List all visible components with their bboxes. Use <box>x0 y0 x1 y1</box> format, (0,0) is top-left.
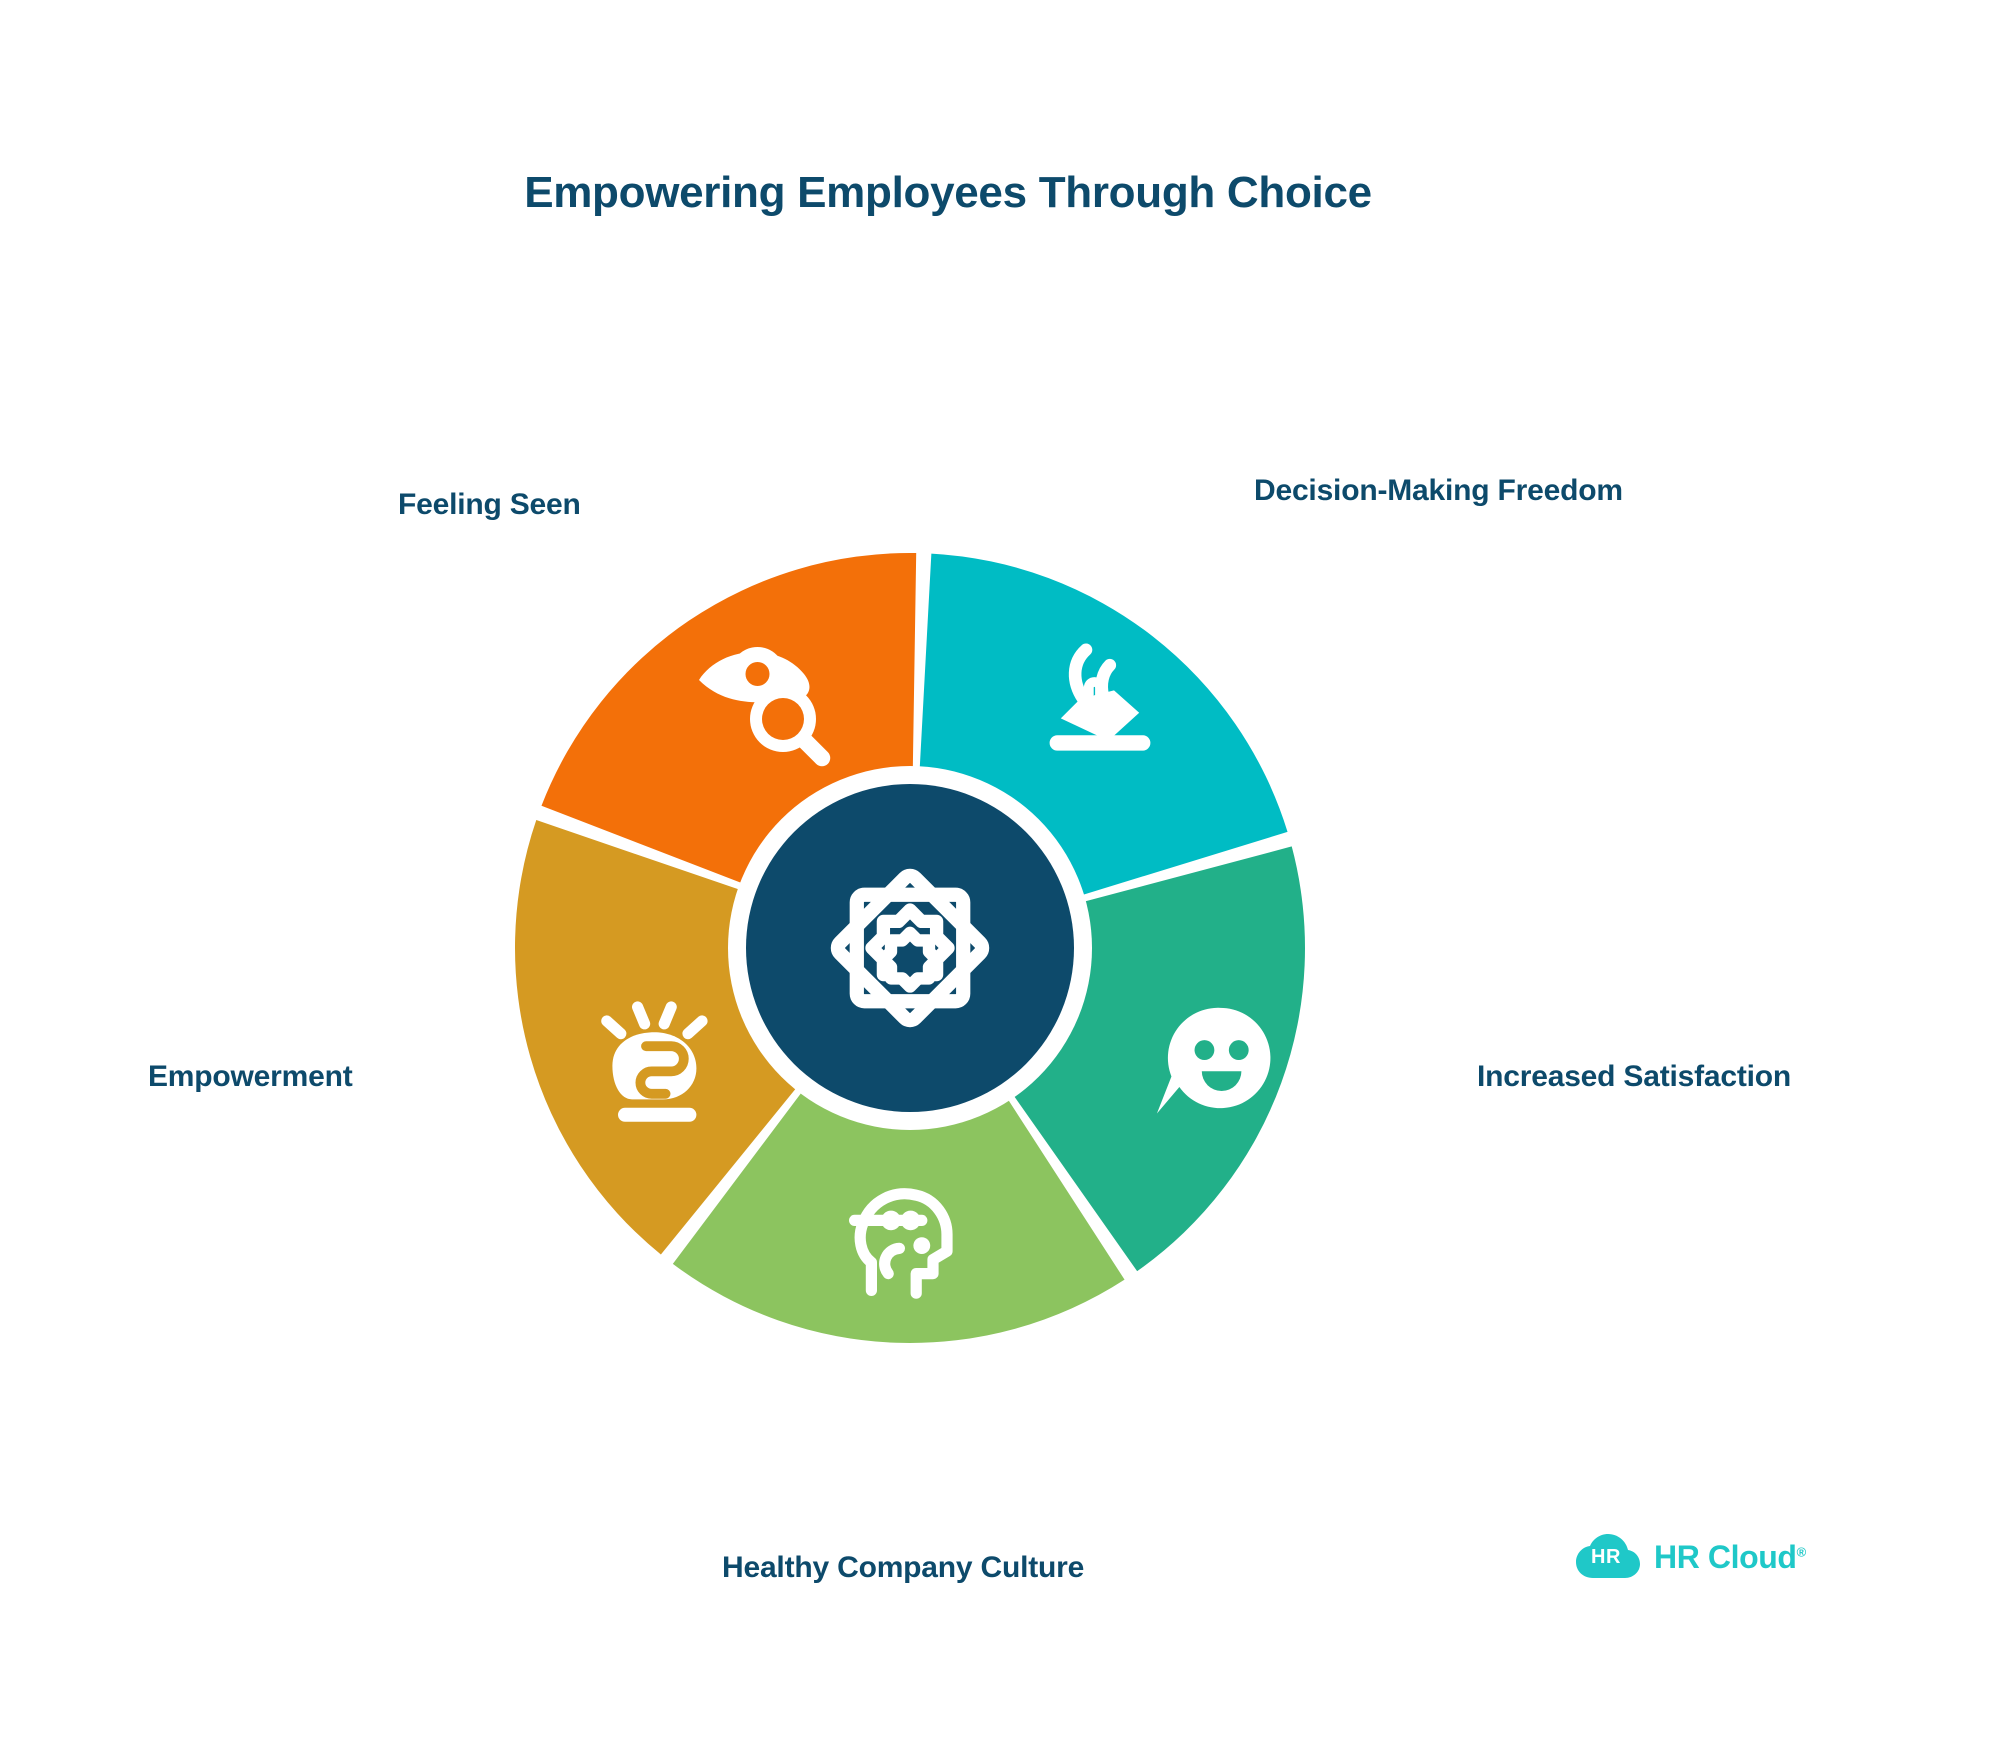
infographic-page: Empowering Employees Through Choice <box>0 0 2016 1764</box>
wheel-label-empowerment: Empowerment <box>148 1060 353 1094</box>
hr-cloud-logo: HR HR Cloud® <box>1576 1534 1806 1580</box>
cloud-icon-label: HR <box>1576 1534 1640 1580</box>
logo-wordmark: HR Cloud® <box>1654 1539 1806 1576</box>
logo-wordmark-text: HR Cloud <box>1654 1539 1797 1575</box>
wheel-label-feeling-seen: Feeling Seen <box>398 488 581 522</box>
wheel-label-decision-making-freedom: Decision-Making Freedom <box>1254 474 1623 508</box>
smiley-speech-bubble-icon <box>1135 978 1295 1138</box>
wheel-label-increased-satisfaction: Increased Satisfaction <box>1477 1060 1791 1094</box>
brain-lightbulb-idea-icon <box>580 983 740 1143</box>
head-profile-mindset-icon <box>825 1160 985 1320</box>
wheel-label-healthy-company-culture: Healthy Company Culture <box>722 1551 1084 1585</box>
registered-trademark-symbol: ® <box>1797 1544 1806 1559</box>
page-title: Empowering Employees Through Choice <box>0 168 1896 218</box>
segmented-wheel-chart <box>400 438 1420 1458</box>
eye-magnifier-icon <box>685 618 845 778</box>
cloud-icon: HR <box>1576 1534 1640 1580</box>
hand-ballot-box-icon <box>1020 616 1180 776</box>
rosette-star-icon <box>760 798 1060 1098</box>
